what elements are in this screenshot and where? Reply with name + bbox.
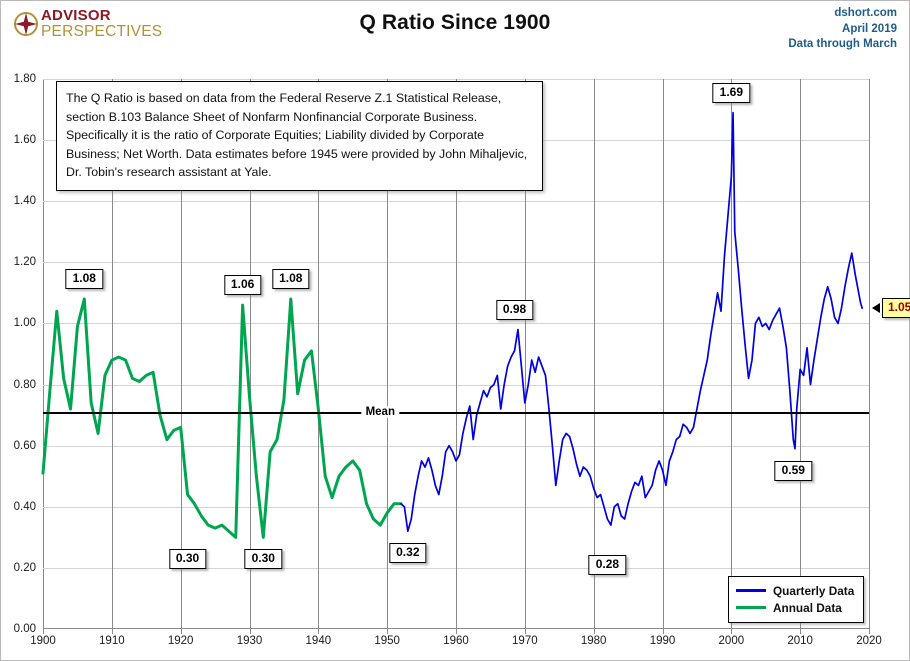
chart-page: ADVISOR PERSPECTIVES Q Ratio Since 1900 … (0, 0, 910, 661)
y-axis-tick-label: 0.40 (14, 501, 36, 513)
x-axis-tickmark (112, 629, 113, 634)
legend-label-quarterly: Quarterly Data (773, 584, 854, 598)
source-note: Data through March (788, 37, 897, 53)
legend-label-annual: Annual Data (773, 601, 842, 615)
y-axis-tick-label: 0.20 (14, 562, 36, 574)
y-axis-tick-label: 1.00 (14, 317, 36, 329)
legend-item-quarterly: Quarterly Data (736, 582, 856, 599)
x-axis-tickmark (869, 629, 870, 634)
description-note-text: The Q Ratio is based on data from the Fe… (66, 89, 533, 182)
data-callout: 1.06 (224, 275, 261, 295)
page-title: Q Ratio Since 1900 (1, 11, 909, 35)
data-callout: 1.08 (272, 269, 309, 289)
x-axis-tick-label: 2000 (719, 635, 745, 647)
description-note: The Q Ratio is based on data from the Fe… (56, 81, 543, 191)
source-site: dshort.com (788, 6, 897, 22)
last-value-callout: 1.05 (882, 298, 910, 318)
y-axis-tick-label: 0.00 (14, 623, 36, 635)
series-line-annual-data (43, 299, 401, 537)
x-axis-tickmark (456, 629, 457, 634)
x-axis-tickmark (525, 629, 526, 634)
data-callout: 0.32 (389, 543, 426, 563)
last-value-arrow-icon (872, 303, 880, 313)
x-axis-tick-label: 2010 (787, 635, 813, 647)
y-axis-tick-label: 1.40 (14, 195, 36, 207)
x-axis-tickmark (181, 629, 182, 634)
y-axis-tick-label: 1.20 (14, 256, 36, 268)
chart-legend: Quarterly Data Annual Data (728, 576, 864, 623)
x-axis-tick-label: 1980 (581, 635, 607, 647)
x-axis-tickmark (800, 629, 801, 634)
x-axis-tick-label: 1990 (650, 635, 676, 647)
x-axis-tick-label: 1920 (168, 635, 194, 647)
y-axis-tick-label: 1.60 (14, 134, 36, 146)
x-axis-tick-label: 2020 (856, 635, 882, 647)
data-callout: 0.30 (169, 549, 206, 569)
source-block: dshort.com April 2019 Data through March (788, 6, 897, 53)
legend-item-annual: Annual Data (736, 599, 856, 616)
mean-label: Mean (362, 406, 399, 418)
data-callout: 0.59 (775, 461, 812, 481)
x-axis-tickmark (318, 629, 319, 634)
x-axis-tickmark (731, 629, 732, 634)
y-axis-tick-label: 1.80 (14, 73, 36, 85)
legend-swatch-annual (736, 606, 766, 609)
x-axis-tick-label: 1940 (306, 635, 332, 647)
x-axis-tickmark (594, 629, 595, 634)
x-axis-tick-label: 1930 (237, 635, 263, 647)
x-axis-tickmark (43, 629, 44, 634)
x-axis-tick-label: 1970 (512, 635, 538, 647)
legend-swatch-quarterly (736, 589, 766, 592)
x-axis-tick-label: 1950 (374, 635, 400, 647)
data-callout: 0.30 (245, 549, 282, 569)
data-callout: 1.69 (713, 83, 750, 103)
y-axis-tick-label: 0.60 (14, 440, 36, 452)
gridline-vertical (869, 79, 870, 629)
data-callout: 1.08 (66, 269, 103, 289)
x-axis-tickmark (387, 629, 388, 634)
x-axis-tick-label: 1900 (30, 635, 56, 647)
data-callout: 0.98 (496, 300, 533, 320)
x-axis-tick-label: 1910 (99, 635, 125, 647)
mean-line (43, 412, 869, 414)
x-axis-tickmark (250, 629, 251, 634)
y-axis-tick-label: 0.80 (14, 379, 36, 391)
x-axis-tickmark (663, 629, 664, 634)
source-date: April 2019 (788, 22, 897, 38)
x-axis-tick-label: 1960 (443, 635, 469, 647)
data-callout: 0.28 (589, 555, 626, 575)
